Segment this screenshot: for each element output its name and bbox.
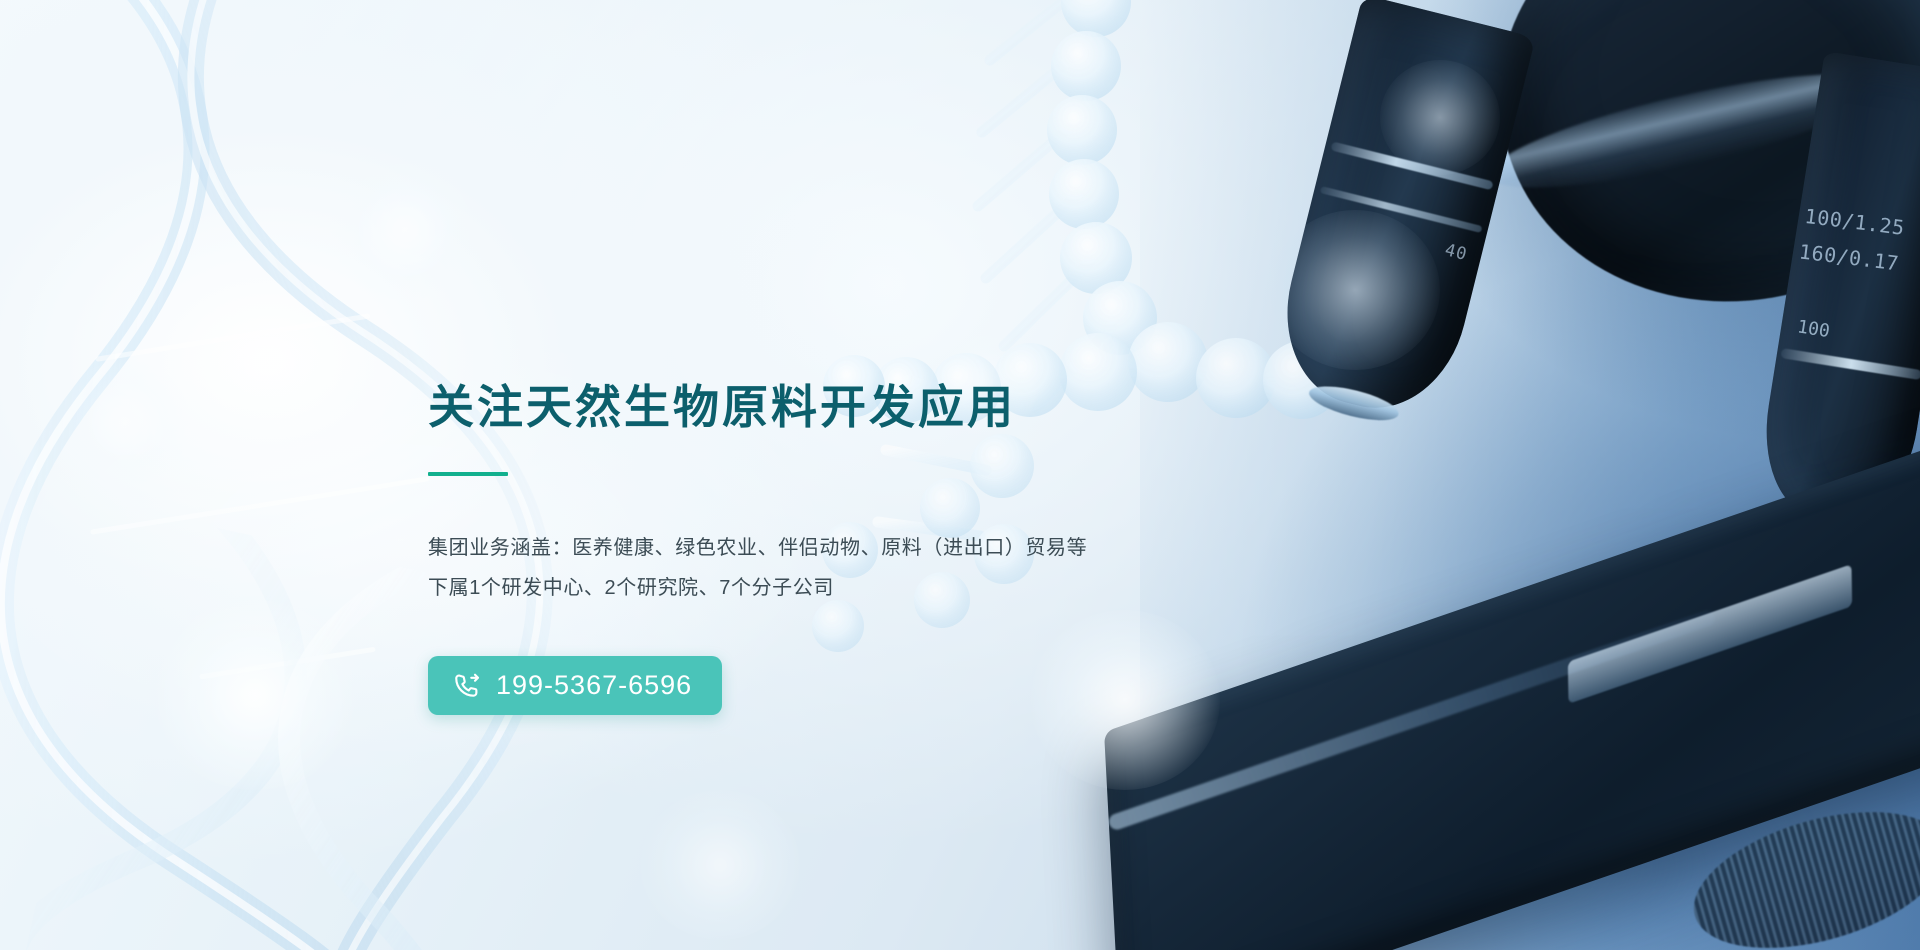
description-line-1: 集团业务涵盖：医养健康、绿色农业、伴侣动物、原料（进出口）贸易等 <box>428 528 1248 568</box>
objective-magnification-40: 40 <box>1443 240 1470 265</box>
phone-number-label: 199-5367-6596 <box>496 670 692 701</box>
phone-cta-button[interactable]: 199-5367-6596 <box>428 656 722 715</box>
description-line-2: 下属1个研发中心、2个研究院、7个分子公司 <box>428 568 1248 608</box>
objective-magnification-100: 100 <box>1796 316 1831 342</box>
accent-divider <box>428 472 508 476</box>
objective-aperture-top: 100/1.25 <box>1803 202 1906 243</box>
hero-description: 集团业务涵盖：医养健康、绿色农业、伴侣动物、原料（进出口）贸易等 下属1个研发中… <box>428 528 1248 608</box>
objective-aperture-bottom: 160/0.17 <box>1797 237 1900 278</box>
page-title: 关注天然生物原料开发应用 <box>428 380 1248 434</box>
hero-content: 关注天然生物原料开发应用 集团业务涵盖：医养健康、绿色农业、伴侣动物、原料（进出… <box>428 380 1248 715</box>
phone-forward-icon <box>452 671 482 701</box>
hero-banner: 40 100/1.25 160/0.17 100 关注天然生物原料开发应用 集团… <box>0 0 1920 950</box>
